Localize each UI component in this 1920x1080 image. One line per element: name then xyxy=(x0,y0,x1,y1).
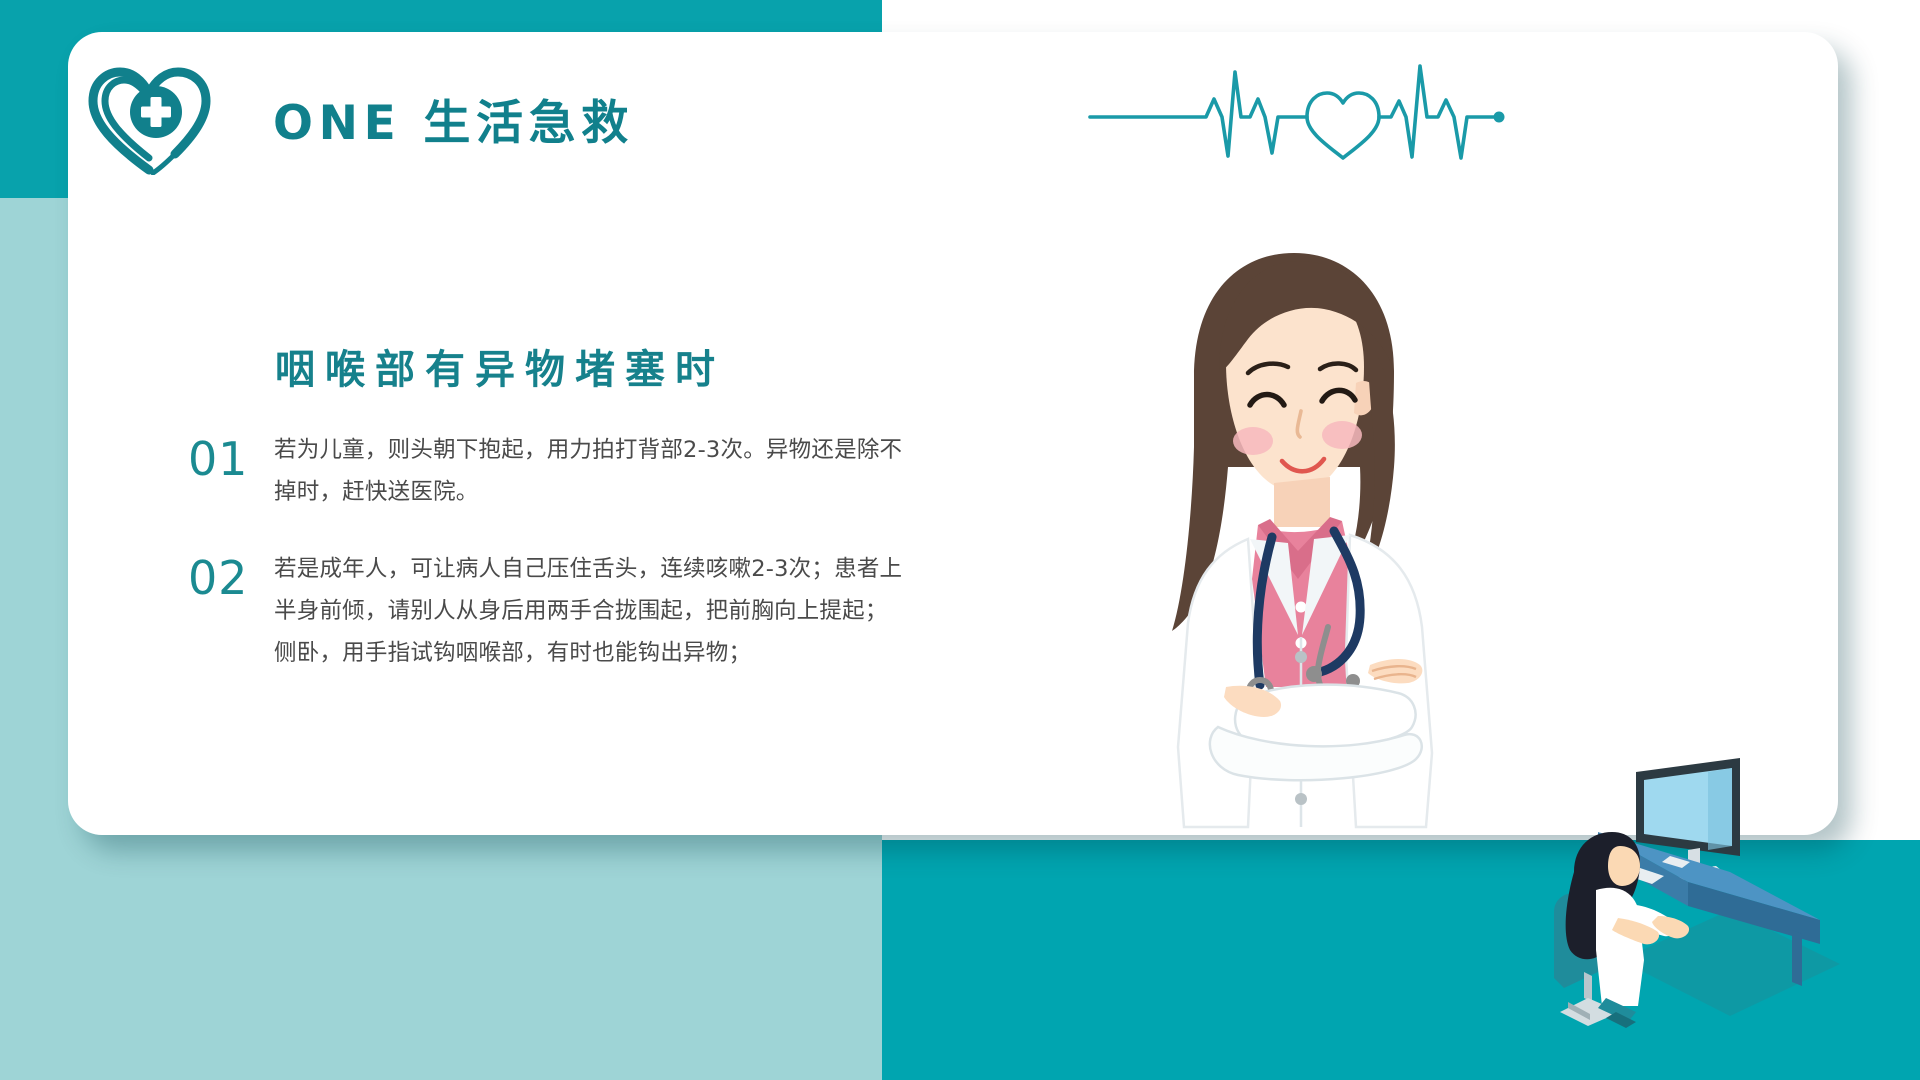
list-item: 01 若为儿童，则头朝下抱起，用力拍打背部2-3次。异物还是除不掉时，赶快送医院… xyxy=(188,430,908,513)
emergency-steps-list: 01 若为儿童，则头朝下抱起，用力拍打背部2-3次。异物还是除不掉时，赶快送医院… xyxy=(188,430,908,710)
heartbeat-ecg-line xyxy=(1088,54,1518,166)
list-item: 02 若是成年人，可让病人自己压住舌头，连续咳嗽2-3次；患者上半身前倾，请别人… xyxy=(188,549,908,674)
list-item-text: 若为儿童，则头朝下抱起，用力拍打背部2-3次。异物还是除不掉时，赶快送医院。 xyxy=(274,430,908,513)
female-doctor-illustration xyxy=(1098,187,1488,835)
list-item-number: 01 xyxy=(188,430,274,482)
heart-medical-cross-logo xyxy=(87,60,212,175)
person-at-desk-illustration xyxy=(1540,750,1850,1030)
slide-card: ONE 生活急救 咽喉部有异物堵塞时 01 若为儿童，则头朝下抱起，用力拍打背部… xyxy=(68,32,1838,835)
list-item-number: 02 xyxy=(188,549,274,601)
list-item-text: 若是成年人，可让病人自己压住舌头，连续咳嗽2-3次；患者上半身前倾，请别人从身后… xyxy=(274,549,908,674)
page-title: ONE 生活急救 xyxy=(273,84,634,153)
section-heading: 咽喉部有异物堵塞时 xyxy=(275,337,725,395)
